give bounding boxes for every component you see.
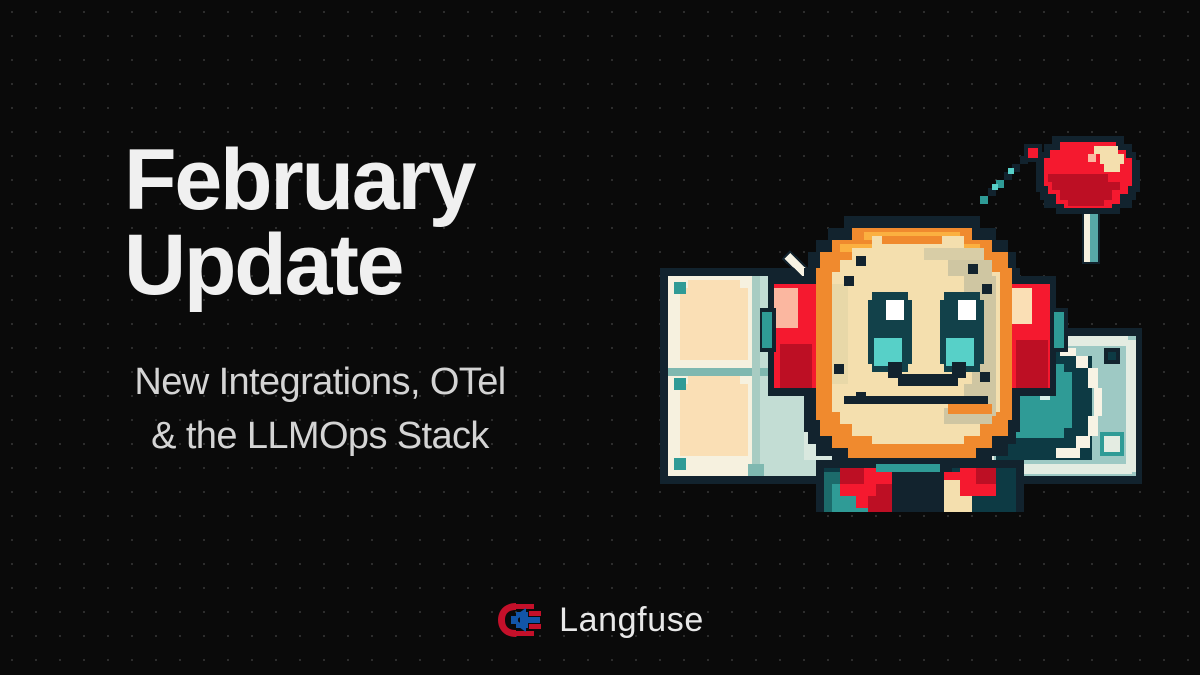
- robot-body: [816, 460, 1024, 512]
- antenna-icon: [980, 144, 1042, 204]
- langfuse-logo-icon: [496, 600, 544, 640]
- brand-footer: Langfuse: [0, 600, 1200, 640]
- robot-mascot-icon: [632, 112, 1142, 512]
- page-title: February Update: [70, 138, 570, 308]
- balloon-icon: [1036, 136, 1140, 264]
- page-subtitle: New Integrations, OTel & the LLMOps Stac…: [70, 356, 570, 464]
- poster-canvas: February Update New Integrations, OTel &…: [0, 0, 1200, 675]
- brand-name: Langfuse: [559, 601, 704, 640]
- hero-text-block: February Update New Integrations, OTel &…: [70, 138, 570, 464]
- pixel-art-robot-illustration: [632, 112, 1142, 512]
